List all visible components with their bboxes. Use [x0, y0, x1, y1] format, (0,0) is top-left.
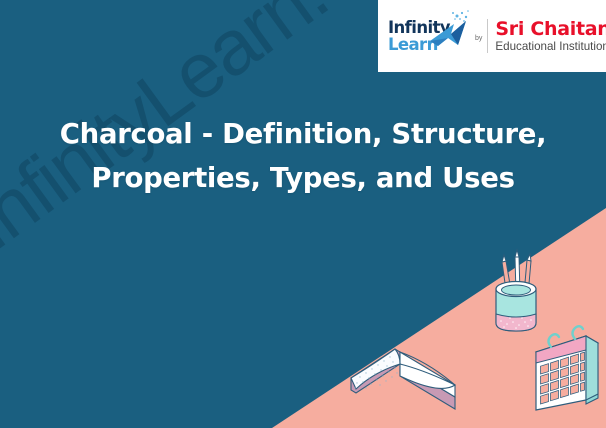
desk-calendar-icon	[536, 326, 598, 410]
calendar-grid	[541, 352, 585, 404]
infinity-bird-arrow-icon	[424, 7, 476, 59]
pencil-white-middle	[515, 250, 520, 294]
pencil-pink-left	[502, 255, 512, 297]
sri-chaitanya-tagline: Educational Institutions	[495, 40, 606, 54]
logo-connector-by: by	[474, 35, 487, 42]
sri-chaitanya-name: Sri Chaitanya	[495, 19, 606, 39]
pencil-cup-icon	[496, 250, 536, 331]
page-title-line-2: Properties, Types, and Uses	[26, 156, 580, 200]
pencil-pink-right	[524, 254, 531, 295]
logo-divider	[487, 19, 488, 53]
infinity-learn-logo[interactable]: Infinity Learn	[386, 7, 474, 65]
open-book-icon	[351, 349, 455, 409]
page-title: Charcoal - Definition, Structure, Proper…	[0, 112, 606, 200]
article-hero-banner: InfinityLearn.com	[0, 0, 606, 428]
calendar-rings	[549, 326, 584, 347]
sri-chaitanya-logo[interactable]: Sri Chaitanya Educational Institutions	[495, 19, 606, 54]
brand-logo-panel[interactable]: Infinity Learn by Sri Chaitanya Educatio…	[378, 0, 606, 72]
page-title-line-1: Charcoal - Definition, Structure,	[26, 112, 580, 156]
